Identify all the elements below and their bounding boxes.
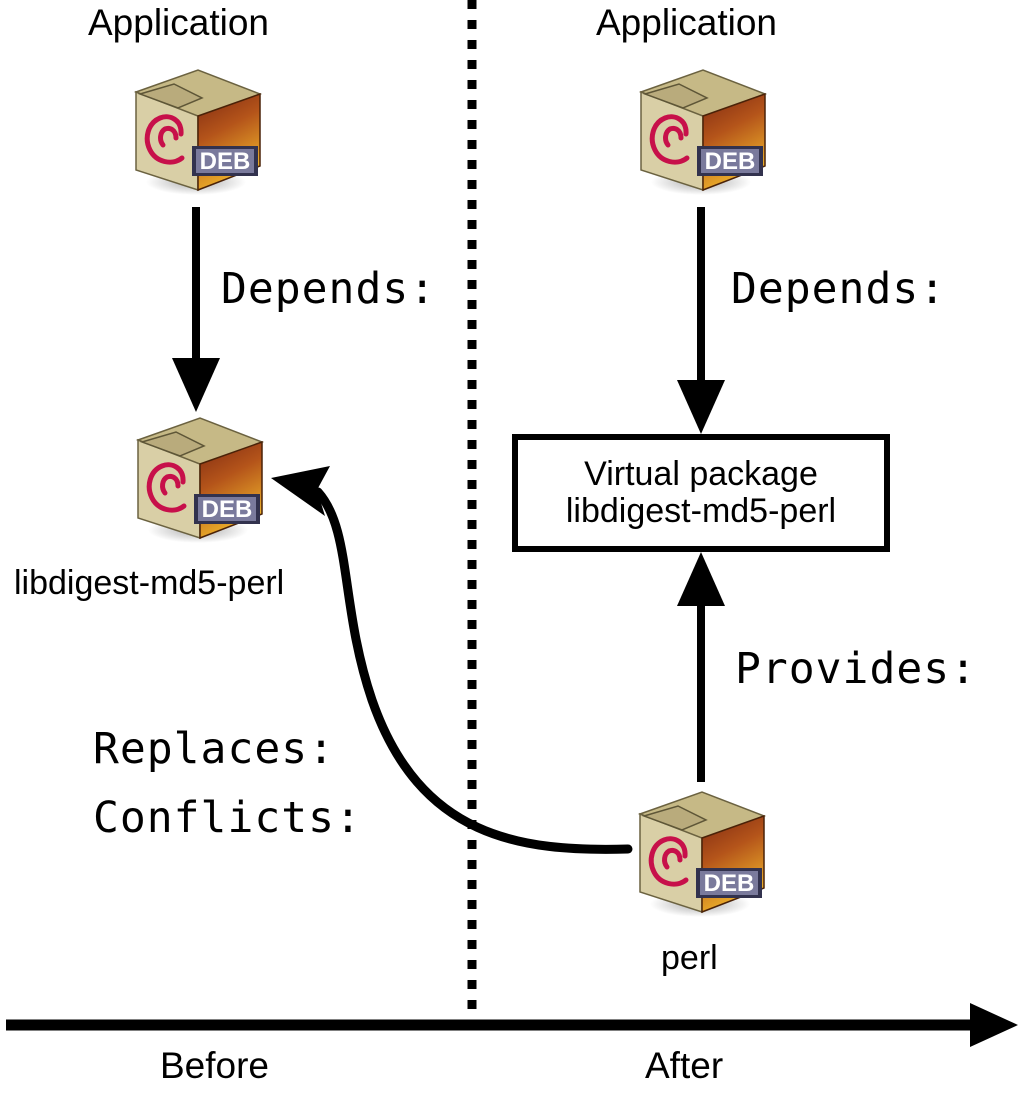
deb-package-icon-libdigest-before: DEB: [120, 406, 270, 546]
label-perl: perl: [661, 941, 718, 975]
deb-package-icon-app-after: DEB: [623, 58, 773, 198]
label-provides: Provides:: [735, 648, 977, 691]
depends-arrow-before: [172, 207, 220, 412]
label-libdigest-md5-perl-before: libdigest-md5-perl: [14, 566, 284, 600]
timeline-label-before: Before: [160, 1047, 269, 1084]
provides-arrow: [677, 552, 725, 782]
virtual-package-box: Virtual package libdigest-md5-perl: [512, 434, 890, 552]
deb-badge: DEB: [192, 146, 258, 176]
virtual-package-line-2: libdigest-md5-perl: [566, 493, 836, 530]
label-depends-before: Depends:: [221, 268, 436, 311]
svg-text:DEB: DEB: [200, 148, 251, 175]
label-application-after: Application: [596, 4, 777, 41]
deb-package-icon-perl-after: DEB: [622, 780, 772, 920]
svg-text:DEB: DEB: [705, 148, 756, 175]
virtual-package-line-1: Virtual package: [584, 456, 818, 493]
deb-package-icon-app-before: DEB: [118, 58, 268, 198]
timeline-label-after: After: [645, 1047, 723, 1084]
label-application-before: Application: [88, 4, 269, 41]
diagram-canvas: DEB: [0, 0, 1024, 1094]
deb-badge: DEB: [697, 146, 763, 176]
depends-arrow-after: [677, 207, 725, 434]
svg-text:DEB: DEB: [704, 870, 755, 897]
svg-text:DEB: DEB: [202, 496, 253, 523]
label-depends-after: Depends:: [731, 268, 946, 311]
label-conflicts: Conflicts:: [93, 797, 362, 840]
deb-badge: DEB: [194, 494, 260, 524]
label-replaces: Replaces:: [93, 728, 335, 771]
timeline-axis: [6, 1003, 1018, 1047]
deb-badge: DEB: [696, 868, 762, 898]
